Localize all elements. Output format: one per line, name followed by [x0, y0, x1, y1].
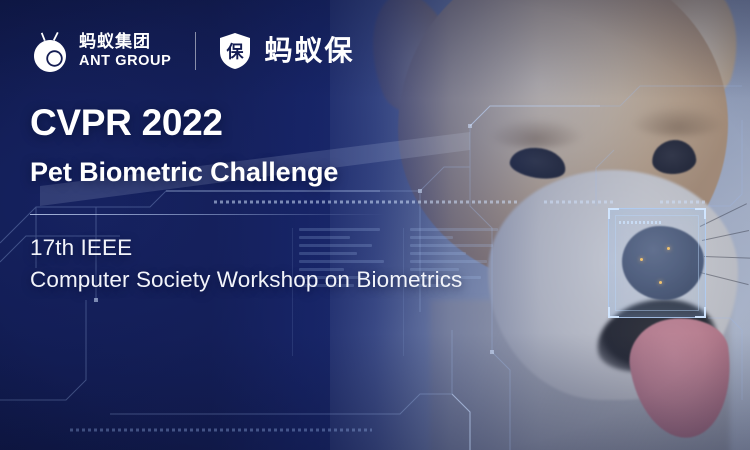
- ant-group-logo-icon: [30, 30, 70, 72]
- ant-insurance-chinese-name: 蚂蚁保: [264, 37, 354, 65]
- ant-insurance-shield-icon: 保: [218, 32, 252, 70]
- ant-group-english-name: ANT GROUP: [79, 54, 171, 69]
- workshop-line-2: Computer Society Workshop on Biometrics: [30, 264, 462, 296]
- title-divider-rule: [30, 214, 385, 215]
- logo-bar: 蚂蚁集团 ANT GROUP 保 蚂蚁保: [30, 28, 354, 74]
- cvpr-pet-biometric-challenge-banner: 蚂蚁集团 ANT GROUP 保 蚂蚁保 CVPR 2022 Pet Biome…: [0, 0, 750, 450]
- workshop-block: 17th IEEE Computer Society Workshop on B…: [30, 232, 462, 296]
- page-title: CVPR 2022: [30, 104, 338, 143]
- heading-block: CVPR 2022 Pet Biometric Challenge: [30, 104, 338, 186]
- svg-text:保: 保: [226, 42, 245, 63]
- workshop-line-1: 17th IEEE: [30, 232, 462, 264]
- logo-divider: [195, 32, 196, 70]
- ant-group-wordmark: 蚂蚁集团 ANT GROUP: [79, 34, 171, 69]
- page-subtitle: Pet Biometric Challenge: [30, 158, 338, 186]
- ant-group-chinese-name: 蚂蚁集团: [79, 34, 171, 51]
